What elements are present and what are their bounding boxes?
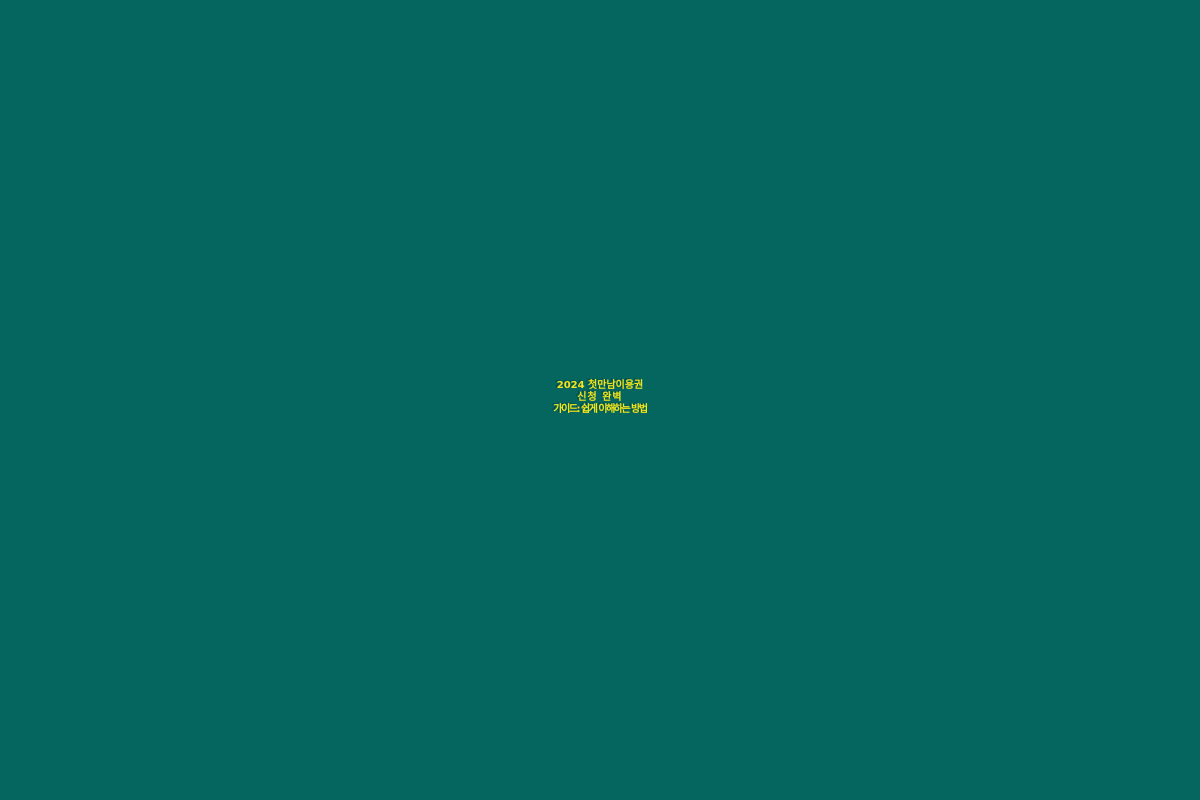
title-line-1: 2024 첫만남이용권	[10, 380, 1190, 392]
page-title: 2024 첫만남이용권 신청 완벽 가이드: 쉽게 이해하는 방법	[0, 380, 1200, 415]
thumbnail-canvas: 2024 첫만남이용권 신청 완벽 가이드: 쉽게 이해하는 방법	[0, 0, 1200, 800]
title-line-3: 가이드: 쉽게 이해하는 방법	[10, 404, 1190, 416]
title-line-2: 신청 완벽	[10, 392, 1190, 404]
